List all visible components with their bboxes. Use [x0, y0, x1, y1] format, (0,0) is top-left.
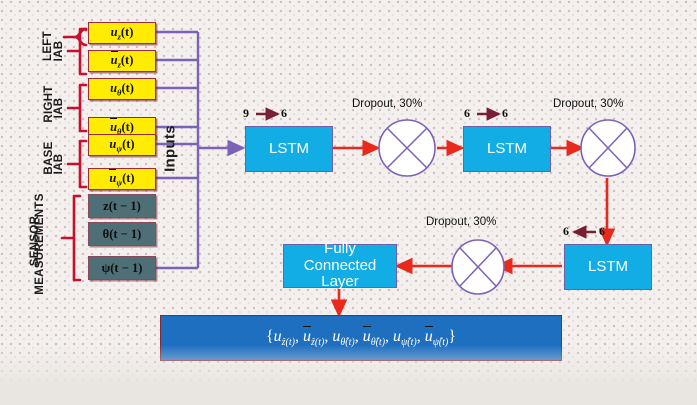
sensor-box-psi-prev[interactable]: ψ(t − 1)	[88, 256, 156, 280]
dim-label-3-from: 6	[599, 224, 605, 239]
brace-left-iab	[64, 29, 86, 45]
dropout-symbol-3[interactable]	[450, 238, 506, 296]
input-box-u-z[interactable]: uz(t)	[88, 22, 156, 44]
input-box-u-psi-text: uψ(t)	[109, 137, 134, 154]
brace-base-iab-body	[68, 141, 86, 187]
input-box-u-theta[interactable]: uθ(t)	[88, 78, 156, 100]
dim-label-1-from: 9	[243, 106, 249, 121]
side-label-sensor-line2: MEASUREMENTS	[34, 179, 46, 309]
inputs-label: Inputs	[162, 114, 179, 184]
input-box-u-theta-text: uθ(t)	[110, 81, 134, 98]
output-box[interactable]: {uẑ(t), uẑ(t), uθ̂(t), uθ̂(t), uψ̂(t),…	[160, 315, 562, 361]
block-lstm-3[interactable]: LSTM	[564, 244, 652, 290]
brace-right-iab-body	[68, 85, 86, 131]
dim-label-2-to: 6	[502, 106, 508, 121]
dim-label-1-to: 6	[281, 106, 287, 121]
dropout-symbol-1[interactable]	[377, 118, 437, 178]
block-lstm-1[interactable]: LSTM	[245, 126, 333, 172]
sensor-box-z-prev[interactable]: z(t − 1)	[88, 194, 156, 218]
diagram-canvas: LEFT IAB RIGHT IAB BASE IAB SENSOR MEASU…	[0, 0, 697, 405]
input-box-ubar-z-text: uz(t)	[111, 53, 134, 70]
dim-label-2-from: 6	[464, 106, 470, 121]
dropout-symbol-2[interactable]	[579, 118, 637, 178]
input-box-u-z-text: uz(t)	[111, 25, 134, 42]
input-box-u-psi[interactable]: uψ(t)	[88, 134, 156, 156]
dropout-label-2: Dropout, 30%	[553, 98, 623, 110]
dim-label-3-to: 6	[563, 224, 569, 239]
dropout-label-1: Dropout, 30%	[352, 98, 422, 110]
block-lstm-2[interactable]: LSTM	[463, 126, 551, 172]
input-box-ubar-psi-text: uψ(t)	[109, 171, 134, 188]
side-label-base-iab-line2: IAB	[53, 139, 65, 189]
brace-sensor-body	[62, 196, 80, 280]
input-box-ubar-psi[interactable]: uψ(t)	[88, 168, 156, 190]
dropout-label-3: Dropout, 30%	[426, 216, 496, 228]
sensor-box-theta-prev[interactable]: θ(t − 1)	[88, 222, 156, 246]
input-box-ubar-z[interactable]: uz(t)	[88, 50, 156, 72]
brace-group	[64, 29, 86, 74]
output-expression: {uẑ(t), uẑ(t), uθ̂(t), uθ̂(t), uψ̂(t),…	[266, 328, 456, 348]
block-fully-connected-layer[interactable]: Fully Connected Layer	[283, 244, 397, 288]
